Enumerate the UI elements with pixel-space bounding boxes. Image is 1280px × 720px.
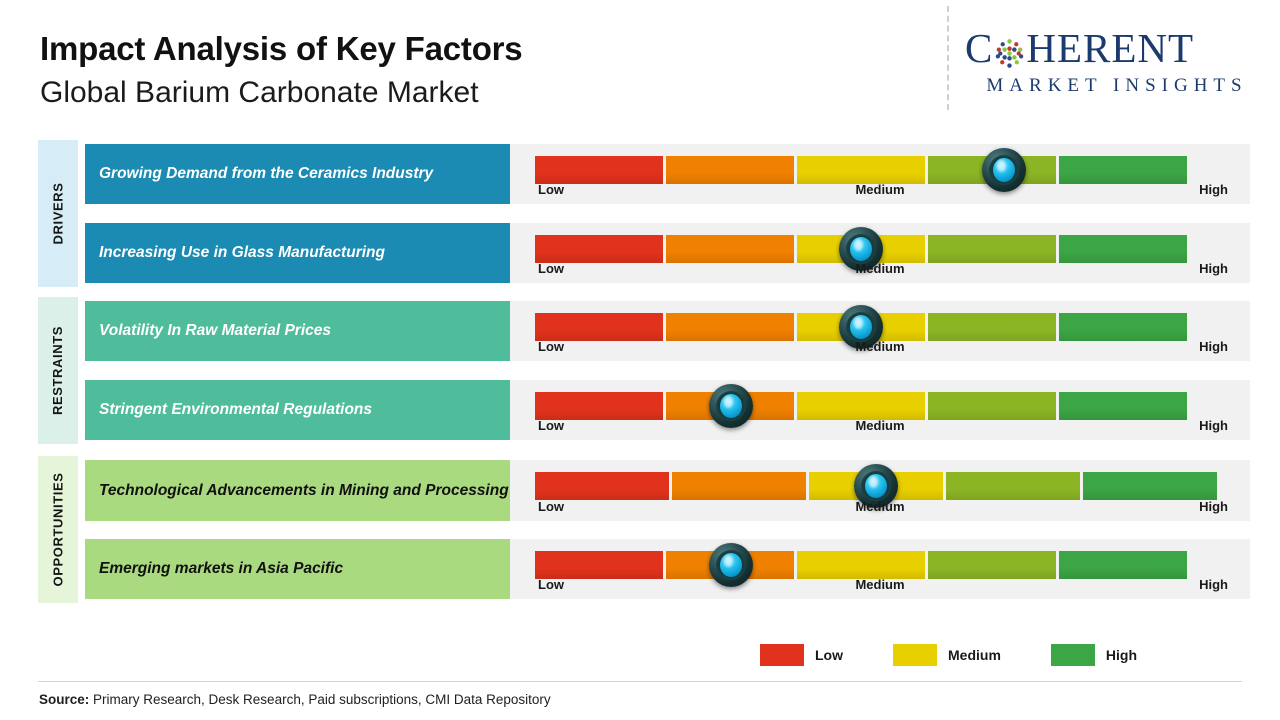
gauge-scale-label-high: High (1199, 418, 1228, 433)
gauge-segment-1 (535, 313, 663, 341)
gauge-bar (535, 313, 1187, 341)
category-strip-opportunities: OPPORTUNITIES (38, 456, 78, 603)
factor-box[interactable]: Volatility In Raw Material Prices (85, 301, 544, 361)
factor-label: Emerging markets in Asia Pacific (99, 559, 343, 579)
gauge-segment-2 (666, 551, 794, 579)
gauge-panel: LowMediumHigh (510, 460, 1250, 521)
gauge-bar (535, 235, 1187, 263)
legend-item: High (1051, 644, 1137, 666)
gauge-segment-4 (928, 235, 1056, 263)
globe-icon (994, 35, 1025, 66)
gauge-scale-label-high: High (1199, 182, 1228, 197)
gauge-segment-3 (809, 472, 943, 500)
footer-divider (38, 681, 1242, 682)
gauge-scale-label-high: High (1199, 339, 1228, 354)
legend-label: Medium (948, 647, 1001, 663)
gauge-panel: LowMediumHigh (510, 539, 1250, 599)
gauge-scale-label-medium: Medium (510, 339, 1250, 354)
gauge-segment-3 (797, 551, 925, 579)
gauge-segment-2 (666, 392, 794, 420)
page-title: Impact Analysis of Key Factors (40, 30, 522, 69)
category-strip-drivers: DRIVERS (38, 140, 78, 287)
factor-box[interactable]: Technological Advancements in Mining and… (85, 460, 544, 521)
gauge-scale-label-medium: Medium (510, 577, 1250, 592)
gauge-segment-3 (797, 235, 925, 263)
category-label: RESTRAINTS (51, 326, 66, 415)
factor-box[interactable]: Increasing Use in Glass Manufacturing (85, 223, 544, 283)
gauge-bar (535, 392, 1187, 420)
gauge-segment-4 (928, 392, 1056, 420)
factor-box[interactable]: Emerging markets in Asia Pacific (85, 539, 544, 599)
factor-label: Technological Advancements in Mining and… (99, 481, 509, 501)
category-label: DRIVERS (51, 183, 66, 245)
gauge-bar (535, 156, 1187, 184)
gauge-scale-label-medium: Medium (510, 261, 1250, 276)
category-label: OPPORTUNITIES (51, 473, 66, 587)
gauge-segment-5 (1059, 235, 1187, 263)
logo-wordmark-top: C (965, 28, 1265, 69)
gauge-panel: LowMediumHigh (510, 301, 1250, 361)
factor-label: Stringent Environmental Regulations (99, 400, 372, 420)
category-strip-restraints: RESTRAINTS (38, 297, 78, 444)
factor-box[interactable]: Stringent Environmental Regulations (85, 380, 544, 440)
gauge-segment-5 (1059, 156, 1187, 184)
legend-swatch (1051, 644, 1095, 666)
gauge-segment-5 (1083, 472, 1217, 500)
gauge-segment-5 (1059, 313, 1187, 341)
logo-tagline: MARKET INSIGHTS (965, 75, 1265, 97)
infographic-page: Impact Analysis of Key Factors Global Ba… (0, 0, 1280, 720)
gauge-segment-1 (535, 392, 663, 420)
gauge-bar (535, 472, 1217, 500)
legend-item: Low (760, 644, 843, 666)
gauge-panel: LowMediumHigh (510, 223, 1250, 283)
gauge-bar (535, 551, 1187, 579)
gauge-scale-label-high: High (1199, 499, 1228, 514)
gauge-segment-4 (928, 156, 1056, 184)
legend-swatch (760, 644, 804, 666)
gauge-scale-label-medium: Medium (510, 418, 1250, 433)
gauge-segment-2 (666, 235, 794, 263)
factor-label: Volatility In Raw Material Prices (99, 321, 331, 341)
source-note: Source: Primary Research, Desk Research,… (39, 692, 551, 707)
page-subtitle: Global Barium Carbonate Market (40, 73, 522, 112)
gauge-panel: LowMediumHigh (510, 380, 1250, 440)
gauge-scale-label-high: High (1199, 261, 1228, 276)
gauge-segment-3 (797, 156, 925, 184)
gauge-scale-label-medium: Medium (510, 499, 1250, 514)
gauge-panel: LowMediumHigh (510, 144, 1250, 204)
gauge-scale-label-medium: Medium (510, 182, 1250, 197)
logo-letter-c: C (965, 28, 993, 69)
logo-wordmark-herent: HERENT (1026, 28, 1194, 69)
legend-label: Low (815, 647, 843, 663)
gauge-segment-4 (946, 472, 1080, 500)
impact-legend: LowMediumHigh (760, 644, 1137, 666)
gauge-segment-2 (672, 472, 806, 500)
factor-box[interactable]: Growing Demand from the Ceramics Industr… (85, 144, 544, 204)
legend-item: Medium (893, 644, 1001, 666)
gauge-segment-2 (666, 156, 794, 184)
title-block: Impact Analysis of Key Factors Global Ba… (40, 30, 522, 112)
gauge-segment-3 (797, 313, 925, 341)
gauge-segment-3 (797, 392, 925, 420)
gauge-scale-label-high: High (1199, 577, 1228, 592)
legend-label: High (1106, 647, 1137, 663)
gauge-segment-1 (535, 472, 669, 500)
factor-label: Increasing Use in Glass Manufacturing (99, 243, 385, 263)
gauge-segment-2 (666, 313, 794, 341)
source-text: Primary Research, Desk Research, Paid su… (89, 692, 550, 707)
source-label: Source: (39, 692, 89, 707)
gauge-segment-1 (535, 551, 663, 579)
gauge-segment-1 (535, 235, 663, 263)
legend-swatch (893, 644, 937, 666)
gauge-segment-5 (1059, 392, 1187, 420)
factor-label: Growing Demand from the Ceramics Industr… (99, 164, 433, 184)
gauge-segment-5 (1059, 551, 1187, 579)
coherent-market-insights-logo: C (965, 28, 1265, 97)
gauge-segment-1 (535, 156, 663, 184)
gauge-segment-4 (928, 551, 1056, 579)
header-dashed-divider (947, 6, 949, 110)
gauge-segment-4 (928, 313, 1056, 341)
